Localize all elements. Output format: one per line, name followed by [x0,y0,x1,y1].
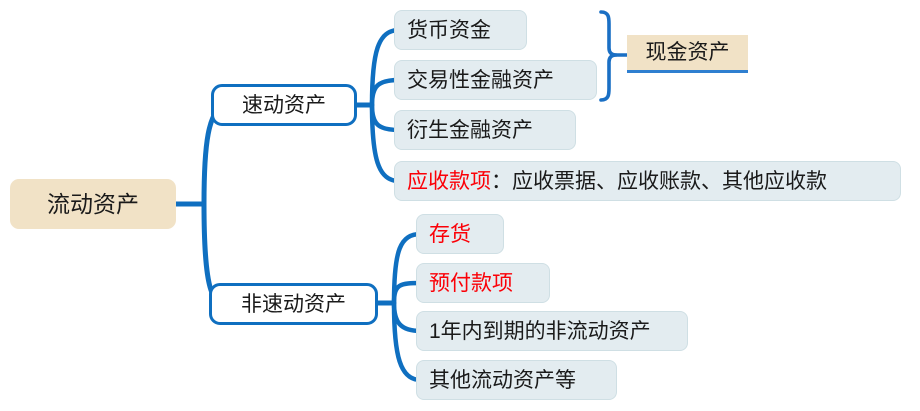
leaf-node-other-current-assets[interactable]: 其他流动资产等 [416,360,617,400]
leaf-node-monetary-funds[interactable]: 货币资金 [394,10,527,50]
branch-node-non-quick-assets[interactable]: 非速动资产 [209,283,378,325]
leaf-node-inventory[interactable]: 存货 [416,214,504,254]
leaf-node-noncurrent-assets-due-within-one-year[interactable]: 1年内到期的非流动资产 [416,311,688,351]
mind-map-canvas: 流动资产 速动资产 非速动资产 货币资金 交易性金融资产 衍生金融资产 应收款项… [0,0,920,411]
branch-node-quick-assets[interactable]: 速动资产 [211,84,357,126]
leaf-node-trading-financial-assets[interactable]: 交易性金融资产 [394,60,597,100]
annotation-cash-assets[interactable]: 现金资产 [627,35,748,73]
leaf-node-prepayments[interactable]: 预付款项 [416,263,550,303]
leaf-node-receivables-label-emphasis: 应收款项 [407,171,491,192]
leaf-node-receivables[interactable]: 应收款项 ：应收票据、应收账款、其他应收款 [394,161,901,201]
root-node-current-assets[interactable]: 流动资产 [10,179,176,229]
leaf-node-receivables-label-detail: ：应收票据、应收账款、其他应收款 [491,171,827,192]
leaf-node-derivative-financial-assets[interactable]: 衍生金融资产 [394,110,576,150]
